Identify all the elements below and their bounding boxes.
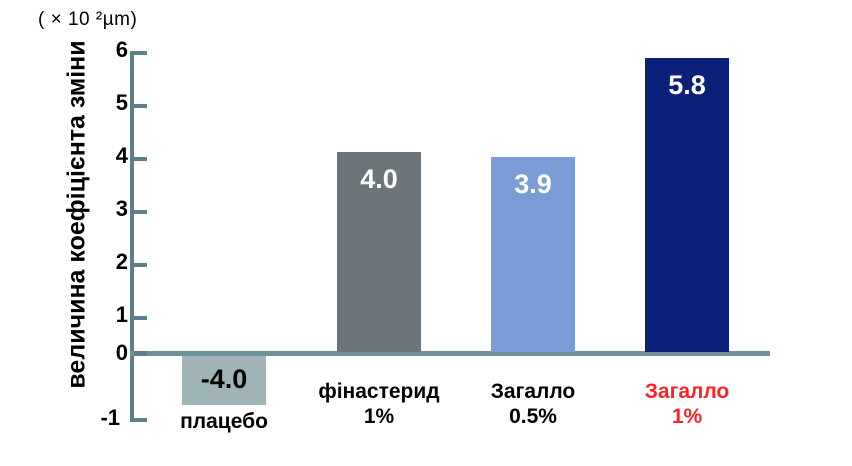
y-tick-5 xyxy=(134,104,147,108)
x-label-zagallo-1-line2: 1% xyxy=(617,405,757,430)
y-tick-label-4: 4 xyxy=(88,145,128,167)
x-label-finasteride-1: фінастерид 1% xyxy=(309,380,449,430)
bar-value-finasteride-1: 4.0 xyxy=(337,166,421,193)
x-label-zagallo-05: Загалло 0.5% xyxy=(463,380,603,430)
x-label-zagallo-1-line1: Загалло xyxy=(617,380,757,405)
bar-chart: ( × 10 ²µm) величина коефіцієнта зміни 6… xyxy=(0,0,852,466)
y-tick-label-1: 1 xyxy=(88,304,128,326)
x-label-placebo: плацебо xyxy=(154,410,294,435)
bar-zagallo-05[interactable]: 3.9 xyxy=(491,157,575,352)
bar-zagallo-1[interactable]: 5.8 xyxy=(645,58,729,352)
y-tick-0 xyxy=(134,351,147,356)
x-label-finasteride-1-line1: фінастерид xyxy=(309,380,449,405)
y-tick-6 xyxy=(134,51,147,55)
bar-value-placebo: -4.0 xyxy=(182,366,266,393)
y-tick-label-6: 6 xyxy=(88,39,128,61)
x-label-zagallo-1: Загалло 1% xyxy=(617,380,757,430)
bar-finasteride-1[interactable]: 4.0 xyxy=(337,152,421,352)
y-tick-label-minus1: -1 xyxy=(80,407,120,429)
y-tick-label-0: 0 xyxy=(88,342,128,364)
y-tick-1 xyxy=(134,316,147,320)
bar-value-zagallo-1: 5.8 xyxy=(645,72,729,99)
y-tick-4 xyxy=(134,157,147,161)
y-tick-label-3: 3 xyxy=(88,198,128,220)
bar-placebo[interactable]: -4.0 xyxy=(182,356,266,405)
x-label-placebo-line1: плацебо xyxy=(154,410,294,435)
y-tick-minus1 xyxy=(134,418,147,422)
x-label-zagallo-05-line2: 0.5% xyxy=(463,405,603,430)
y-tick-2 xyxy=(134,263,147,267)
y-tick-label-2: 2 xyxy=(88,251,128,273)
x-label-zagallo-05-line1: Загалло xyxy=(463,380,603,405)
bar-value-zagallo-05: 3.9 xyxy=(491,171,575,198)
y-tick-label-5: 5 xyxy=(88,92,128,114)
x-label-finasteride-1-line2: 1% xyxy=(309,405,449,430)
y-tick-3 xyxy=(134,210,147,214)
